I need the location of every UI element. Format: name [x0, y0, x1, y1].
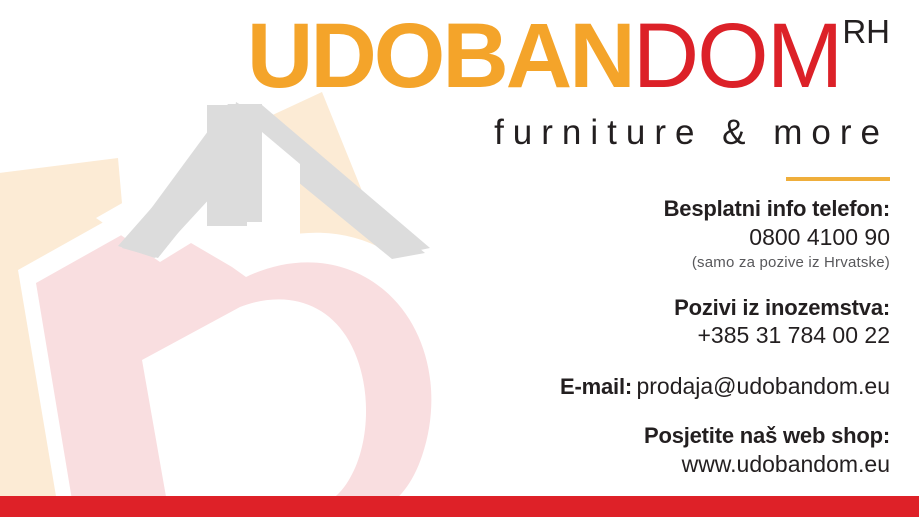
logo-block: UDOBANDOMRH furniture & more	[0, 0, 919, 180]
footer-accent-bar	[0, 496, 919, 517]
logo-wordmark: UDOBANDOMRH	[247, 10, 890, 102]
watermark-letter-b-counter-upper	[96, 186, 222, 262]
contact-banner: UDOBANDOMRH furniture & more Besplatni i…	[0, 0, 919, 517]
free-phone-label: Besplatni info telefon:	[250, 196, 890, 223]
international-label: Pozivi iz inozemstva:	[250, 295, 890, 322]
free-phone-value[interactable]: 0800 4100 90	[250, 223, 890, 252]
logo-word-secondary: DOM	[633, 5, 842, 107]
watermark-letter-d-stem	[0, 158, 150, 517]
contact-group-international: Pozivi iz inozemstva: +385 31 784 00 22	[250, 295, 890, 351]
webshop-label: Posjetite naš web shop:	[250, 423, 890, 450]
contact-group-free-phone: Besplatni info telefon: 0800 4100 90 (sa…	[250, 196, 890, 273]
webshop-value[interactable]: www.udobandom.eu	[250, 450, 890, 479]
email-value[interactable]: prodaja@udobandom.eu	[636, 373, 890, 399]
logo-tagline: furniture & more	[494, 113, 889, 153]
international-value[interactable]: +385 31 784 00 22	[250, 321, 890, 350]
logo-superscript-rh: RH	[842, 13, 890, 50]
email-label: E-mail:	[560, 374, 632, 399]
logo-word-primary: UDOBAN	[247, 5, 633, 107]
free-phone-note: (samo za pozive iz Hrvatske)	[250, 252, 890, 273]
contact-group-webshop: Posjetite naš web shop: www.udobandom.eu	[250, 423, 890, 479]
contact-details: Besplatni info telefon: 0800 4100 90 (sa…	[250, 196, 890, 479]
contact-group-email: E-mail: prodaja@udobandom.eu	[250, 372, 890, 401]
logo-divider-rule	[786, 177, 890, 181]
email-line: E-mail: prodaja@udobandom.eu	[250, 372, 890, 401]
